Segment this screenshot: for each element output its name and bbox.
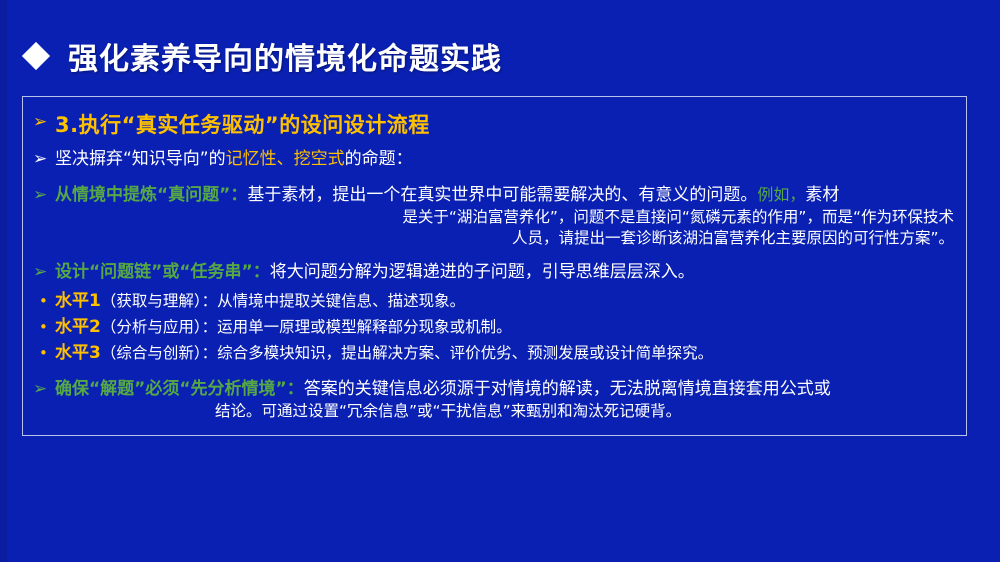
level-1-label: 水平1 bbox=[55, 291, 101, 311]
level-3-text: 水平3（综合与创新）：综合多模块知识，提出解决方案、评价优劣、预测发展或设计简单… bbox=[55, 342, 954, 365]
question-chain-text: 设计“问题链”或“任务串”：将大问题分解为逻辑递进的子问题，引导思维层层深入。 bbox=[55, 261, 954, 284]
dot-bullet-icon: • bbox=[33, 316, 55, 339]
page-title: 强化素养导向的情境化命题实践 bbox=[26, 34, 502, 78]
dot-bullet-icon: • bbox=[33, 290, 55, 313]
level-3-label: 水平3 bbox=[55, 343, 101, 363]
real-question-row: ➢ 从情境中提炼“真问题”：基于素材，提出一个在真实世界中可能需要解决的、有意义… bbox=[33, 184, 954, 249]
abandon-highlight: 记忆性、挖空式 bbox=[226, 149, 345, 169]
level-2-desc: （分析与应用）：运用单一原理或模型解释部分现象或机制。 bbox=[101, 318, 512, 336]
diamond-icon bbox=[22, 42, 50, 70]
example-line3: 人员，请提出一套诊断该湖泊富营养化主要原因的可行性方案”。 bbox=[55, 228, 954, 249]
abandon-part3: 的命题： bbox=[345, 149, 413, 169]
real-question-label: 从情境中提炼“真问题”： bbox=[55, 185, 247, 205]
page-title-text: 强化素养导向的情境化命题实践 bbox=[68, 34, 502, 78]
abandon-row: ➢ 坚决摒弃“知识导向”的记忆性、挖空式的命题： bbox=[33, 148, 954, 171]
analyze-first-body: 答案的关键信息必须源于对情境的解读，无法脱离情境直接套用公式或 bbox=[304, 379, 831, 399]
dot-bullet-icon: • bbox=[33, 342, 55, 365]
slide: 强化素养导向的情境化命题实践 ➢ 3.执行“真实任务驱动”的设问设计流程 ➢ 坚… bbox=[0, 0, 1000, 562]
content-box: ➢ 3.执行“真实任务驱动”的设问设计流程 ➢ 坚决摒弃“知识导向”的记忆性、挖… bbox=[22, 96, 967, 436]
arrow-bullet-icon: ➢ bbox=[33, 378, 55, 401]
question-chain-row: ➢ 设计“问题链”或“任务串”：将大问题分解为逻辑递进的子问题，引导思维层层深入… bbox=[33, 261, 954, 284]
abandon-text: 坚决摒弃“知识导向”的记忆性、挖空式的命题： bbox=[55, 148, 954, 171]
level-2-label: 水平2 bbox=[55, 317, 101, 337]
level-2-text: 水平2（分析与应用）：运用单一原理或模型解释部分现象或机制。 bbox=[55, 316, 954, 339]
level-3-desc: （综合与创新）：综合多模块知识，提出解决方案、评价优劣、预测发展或设计简单探究。 bbox=[101, 344, 713, 362]
level-1-desc: （获取与理解）：从情境中提取关键信息、描述现象。 bbox=[101, 292, 465, 310]
arrow-bullet-icon: ➢ bbox=[33, 184, 55, 207]
example-line2: 是关于“湖泊富营养化”，问题不是直接问“氮磷元素的作用”，而是“作为环保技术 bbox=[55, 207, 954, 228]
arrow-bullet-icon: ➢ bbox=[33, 111, 55, 134]
level-row-3: • 水平3（综合与创新）：综合多模块知识，提出解决方案、评价优劣、预测发展或设计… bbox=[33, 342, 954, 365]
arrow-bullet-icon: ➢ bbox=[33, 148, 55, 171]
analyze-first-text: 确保“解题”必须“先分析情境”：答案的关键信息必须源于对情境的解读，无法脱离情境… bbox=[55, 378, 954, 422]
section-heading-row: ➢ 3.执行“真实任务驱动”的设问设计流程 bbox=[33, 111, 954, 139]
level-1-text: 水平1（获取与理解）：从情境中提取关键信息、描述现象。 bbox=[55, 290, 954, 313]
arrow-bullet-icon: ➢ bbox=[33, 261, 55, 284]
question-chain-label: 设计“问题链”或“任务串”： bbox=[55, 262, 270, 282]
analyze-first-row: ➢ 确保“解题”必须“先分析情境”：答案的关键信息必须源于对情境的解读，无法脱离… bbox=[33, 378, 954, 422]
analyze-first-line2: 结论。可通过设置“冗余信息”或“干扰信息”来甄别和淘汰死记硬背。 bbox=[55, 401, 954, 422]
abandon-part1: 坚决摒弃“知识导向”的 bbox=[55, 149, 226, 169]
example-lead: 例如， bbox=[757, 185, 805, 204]
left-edge-stripe bbox=[0, 0, 7, 562]
question-chain-body: 将大问题分解为逻辑递进的子问题，引导思维层层深入。 bbox=[270, 262, 695, 282]
level-row-2: • 水平2（分析与应用）：运用单一原理或模型解释部分现象或机制。 bbox=[33, 316, 954, 339]
real-question-text: 从情境中提炼“真问题”：基于素材，提出一个在真实世界中可能需要解决的、有意义的问… bbox=[55, 184, 954, 249]
level-row-1: • 水平1（获取与理解）：从情境中提取关键信息、描述现象。 bbox=[33, 290, 954, 313]
example-rest: 素材 bbox=[805, 185, 839, 205]
section-heading-text: 3.执行“真实任务驱动”的设问设计流程 bbox=[55, 111, 954, 139]
real-question-body: 基于素材，提出一个在真实世界中可能需要解决的、有意义的问题。 bbox=[247, 185, 757, 205]
analyze-first-label: 确保“解题”必须“先分析情境”： bbox=[55, 379, 304, 399]
